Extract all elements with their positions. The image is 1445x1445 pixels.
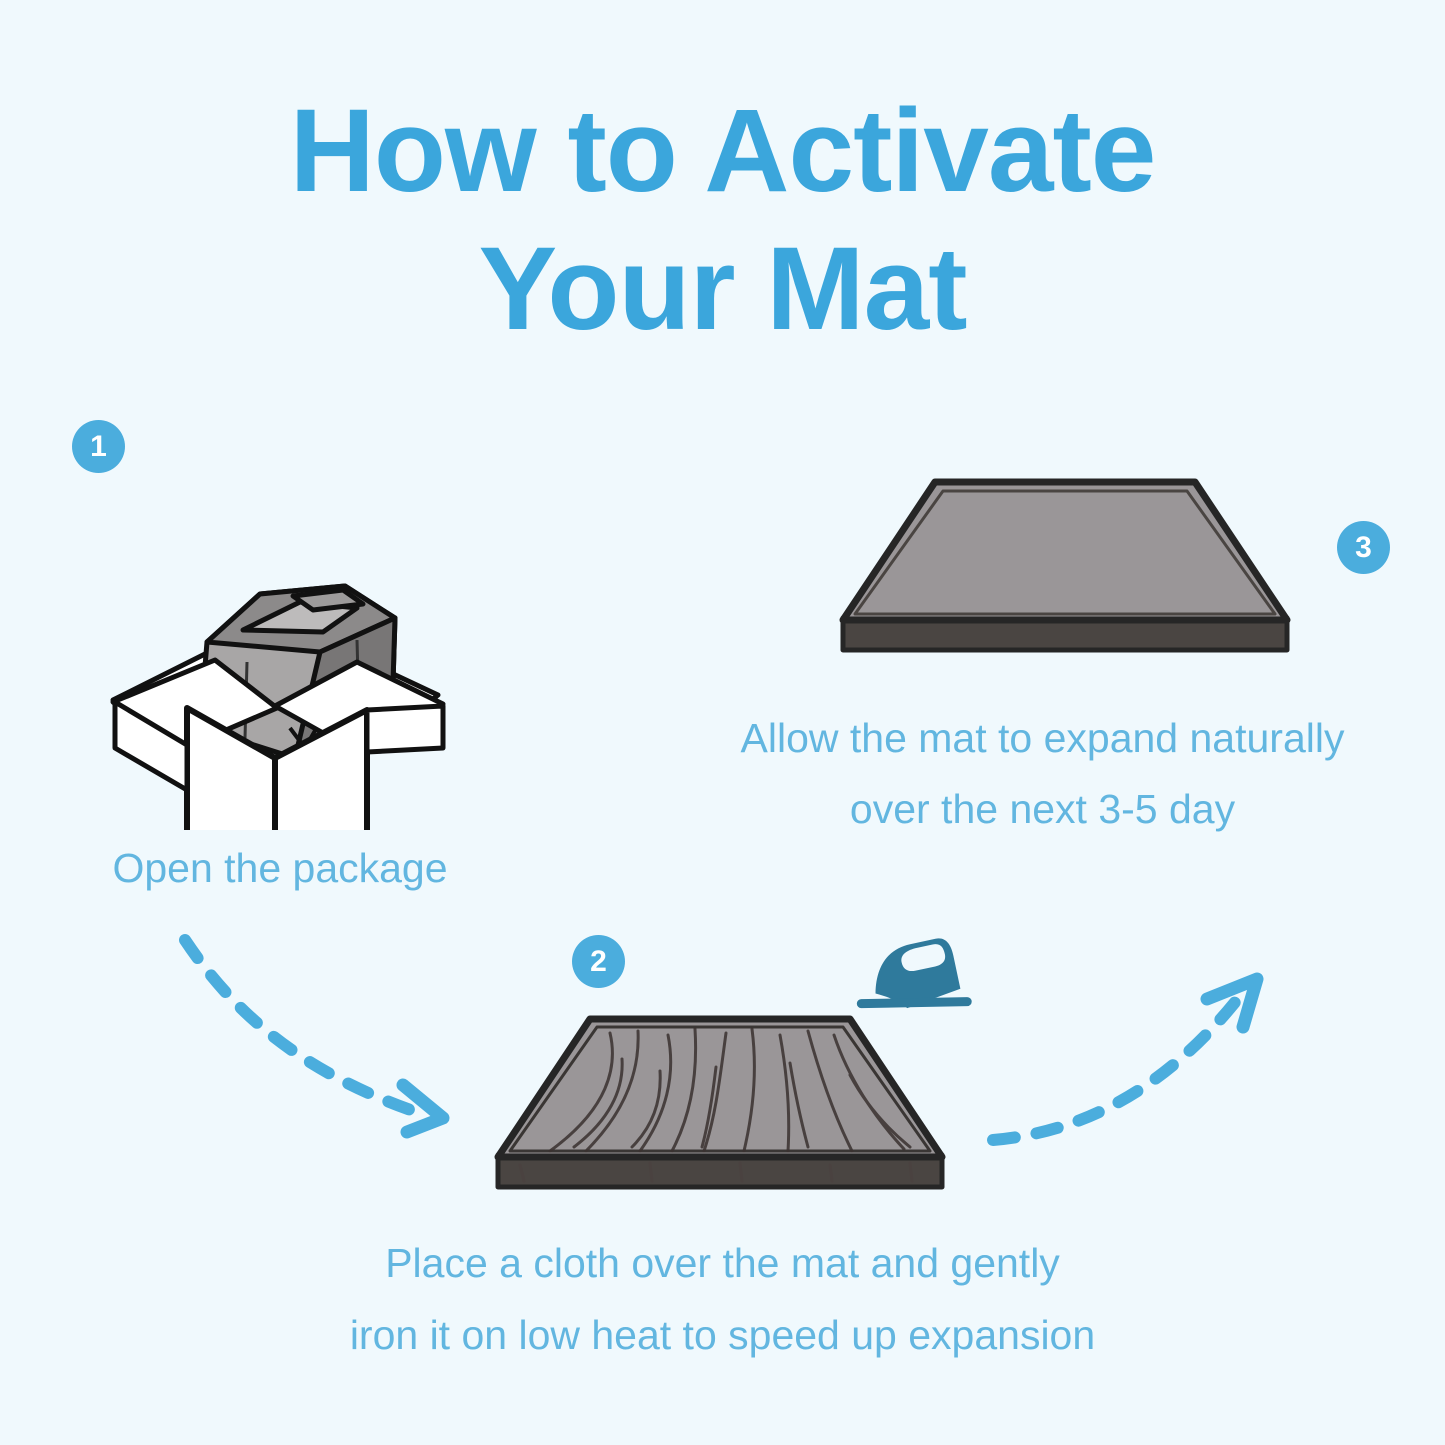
expanded-flat-mat-icon [835,470,1295,670]
step-badge-2: 2 [572,935,625,988]
step-3-caption: Allow the mat to expand naturally over t… [645,718,1440,830]
step-1-caption: Open the package [40,848,520,889]
step-3-caption-line-2: over the next 3-5 day [645,789,1440,830]
title-line-1: How to Activate [0,82,1445,220]
open-cardboard-box-icon [95,490,455,830]
step-3-caption-line-1: Allow the mat to expand naturally [645,718,1440,759]
infographic-canvas: How to Activate Your Mat 1 [0,0,1445,1445]
arrow-step1-to-step2-icon [175,925,475,1140]
page-title: How to Activate Your Mat [0,82,1445,358]
step-2-caption-line-2: iron it on low heat to speed up expansio… [235,1315,1210,1356]
step-badge-3: 3 [1337,521,1390,574]
step-2-caption-line-1: Place a cloth over the mat and gently [235,1243,1210,1284]
arrow-step2-to-step3-icon [985,965,1275,1165]
step-2-caption: Place a cloth over the mat and gently ir… [235,1243,1210,1356]
step-badge-1: 1 [72,420,125,473]
title-line-2: Your Mat [0,220,1445,358]
mat-with-cloth-icon [490,1005,950,1210]
